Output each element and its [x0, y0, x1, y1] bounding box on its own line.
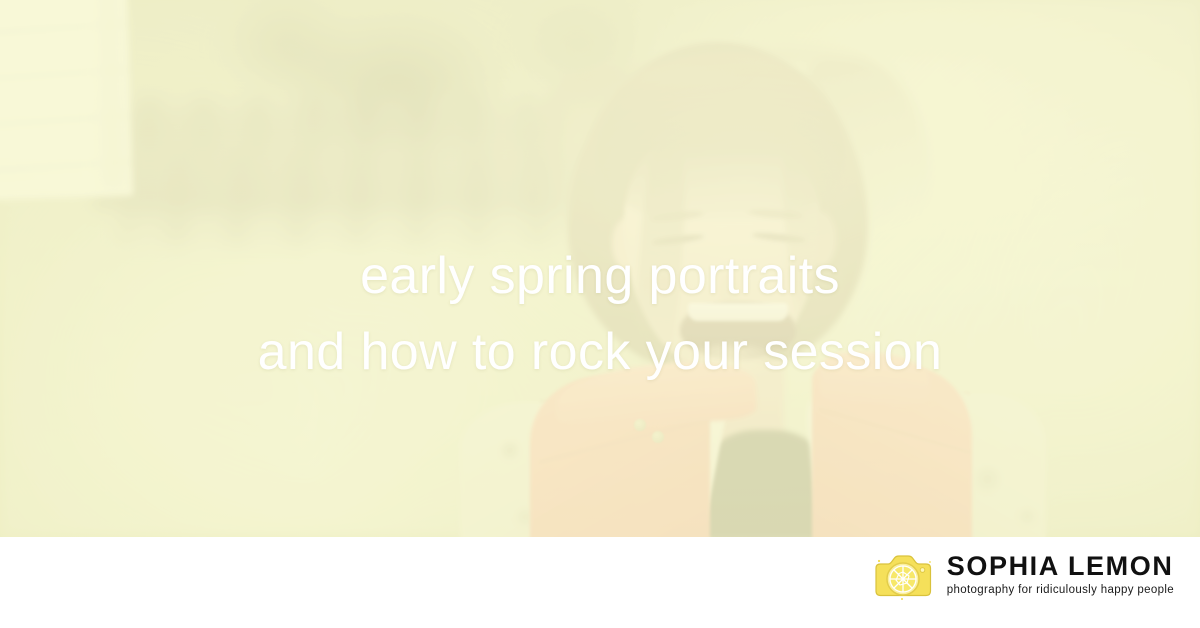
- brand-tagline: photography for ridiculously happy peopl…: [947, 582, 1174, 599]
- brand-name: SOPHIA LEMON: [947, 553, 1174, 581]
- lemon-camera-logo-icon: [871, 551, 935, 601]
- brand-logo[interactable]: SOPHIA LEMON photography for ridiculousl…: [871, 551, 1174, 601]
- hero-title-line-1: early spring portraits: [0, 238, 1200, 314]
- blog-header-card: early spring portraits and how to rock y…: [0, 0, 1200, 628]
- footer-bar: SOPHIA LEMON photography for ridiculousl…: [0, 537, 1200, 628]
- hero-title-line-2: and how to rock your session: [0, 314, 1200, 390]
- hero-title: early spring portraits and how to rock y…: [0, 238, 1200, 390]
- brand-text-block: SOPHIA LEMON photography for ridiculousl…: [947, 553, 1174, 600]
